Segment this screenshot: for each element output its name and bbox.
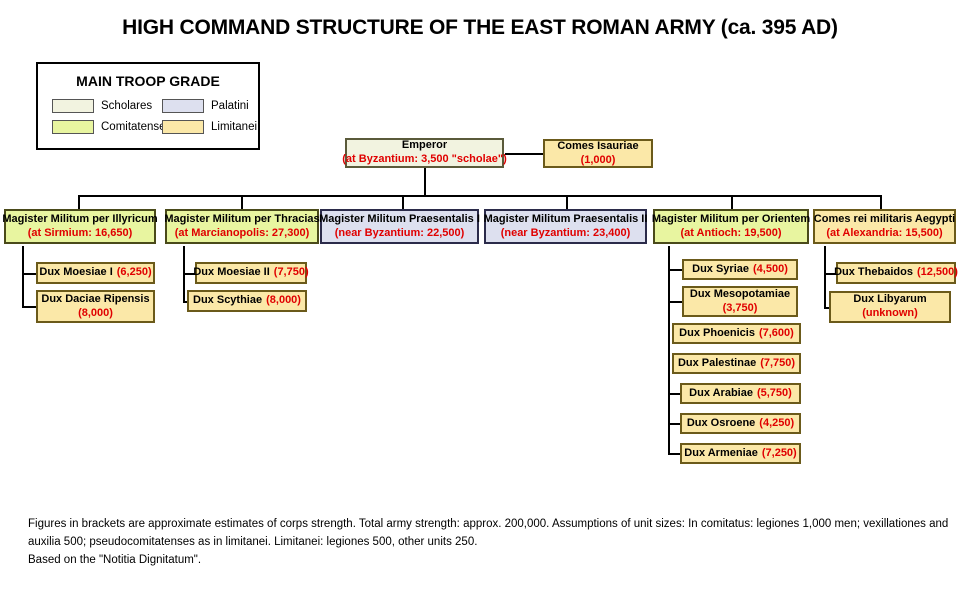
node-dux-moesiae-ii[interactable]: Dux Moesiae II (7,750)	[195, 262, 307, 284]
node-aegypti-detail: (at Alexandria: 15,500)	[826, 227, 942, 241]
node-dux-libyarum-detail: (unknown)	[862, 307, 918, 321]
node-dux-phoenicis-detail: (7,600)	[759, 327, 794, 341]
node-comes-isauriae-title: Comes Isauriae	[557, 140, 638, 154]
legend-label-comitatenses: Comitatenses	[101, 121, 171, 133]
node-dux-scythiae-title: Dux Scythiae	[193, 294, 262, 308]
node-comes-rei-militaris-aegypti[interactable]: Comes rei militaris Aegypti (at Alexandr…	[813, 209, 956, 244]
legend-label-scholares: Scholares	[101, 100, 152, 112]
node-dux-arabiae-title: Dux Arabiae	[689, 387, 753, 401]
node-dux-arabiae-detail: (5,750)	[757, 387, 792, 401]
node-dux-mesopotamiae-title: Dux Mesopotamiae	[690, 288, 790, 302]
legend-title: MAIN TROOP GRADE	[38, 73, 258, 89]
node-praesentalis-1-title: Magister Militum Praesentalis I	[319, 213, 480, 227]
node-dux-palestinae-detail: (7,750)	[760, 357, 795, 371]
node-dux-armeniae-detail: (7,250)	[762, 447, 797, 461]
legend-swatch-scholares	[52, 99, 94, 113]
node-dux-moesiae-i-detail: (6,250)	[117, 266, 152, 280]
legend-item-palatini: Palatini	[162, 99, 249, 113]
node-dux-daciae-ripensis[interactable]: Dux Daciae Ripensis (8,000)	[36, 290, 155, 323]
connector-drop-illyricum	[78, 195, 80, 209]
node-dux-syriae-title: Dux Syriae	[692, 263, 749, 277]
node-emperor[interactable]: Emperor (at Byzantium: 3,500 "scholae")	[345, 138, 504, 168]
node-praesentalis-2-title: Magister Militum Praesentalis II	[484, 213, 648, 227]
node-dux-scythiae-detail: (8,000)	[266, 294, 301, 308]
legend-swatch-comitatenses	[52, 120, 94, 134]
node-magister-militum-praesentalis-2[interactable]: Magister Militum Praesentalis II (near B…	[484, 209, 647, 244]
node-comes-isauriae-detail: (1,000)	[581, 154, 616, 168]
node-dux-moesiae-i-title: Dux Moesiae I	[39, 266, 112, 280]
page-title: HIGH COMMAND STRUCTURE OF THE EAST ROMAN…	[0, 16, 960, 40]
node-dux-armeniae-title: Dux Armeniae	[684, 447, 758, 461]
legend-swatch-limitanei	[162, 120, 204, 134]
node-magister-militum-per-illyricum[interactable]: Magister Militum per Illyricum (at Sirmi…	[4, 209, 156, 244]
legend-item-scholares: Scholares	[52, 99, 152, 113]
node-dux-mesopotamiae[interactable]: Dux Mesopotamiae (3,750)	[682, 286, 798, 317]
node-magister-militum-per-thracias[interactable]: Magister Militum per Thracias (at Marcia…	[165, 209, 319, 244]
connector-stub-daciae	[22, 306, 36, 308]
node-dux-daciae-detail: (8,000)	[78, 307, 113, 321]
connector-stub-armeniae	[668, 453, 680, 455]
node-orientem-detail: (at Antioch: 19,500)	[680, 227, 781, 241]
node-dux-osroene-title: Dux Osroene	[687, 417, 755, 431]
node-dux-arabiae[interactable]: Dux Arabiae (5,750)	[680, 383, 801, 404]
node-dux-palestinae-title: Dux Palestinae	[678, 357, 756, 371]
node-dux-armeniae[interactable]: Dux Armeniae (7,250)	[680, 443, 801, 464]
node-emperor-title: Emperor	[402, 139, 447, 153]
node-dux-syriae-detail: (4,500)	[753, 263, 788, 277]
legend-label-limitanei: Limitanei	[211, 121, 257, 133]
connector-drop-praesentalis-2	[566, 195, 568, 209]
node-dux-moesiae-ii-title: Dux Moesiae II	[193, 266, 269, 280]
node-dux-thebaidos-detail: (12,500)	[917, 266, 958, 280]
connector-stub-mesopotamiae	[668, 301, 682, 303]
node-dux-osroene[interactable]: Dux Osroene (4,250)	[680, 413, 801, 434]
connector-drop-praesentalis-1	[402, 195, 404, 209]
node-magister-militum-per-orientem[interactable]: Magister Militum per Orientem (at Antioc…	[653, 209, 809, 244]
node-dux-phoenicis[interactable]: Dux Phoenicis (7,600)	[672, 323, 801, 344]
connector-emperor-stem	[424, 167, 426, 195]
connector-trunk-aegypti	[824, 246, 826, 308]
connector-trunk-illyricum	[22, 246, 24, 307]
footnote-line-3: Based on the "Notitia Dignitatum".	[28, 552, 934, 570]
connector-drop-orientem	[731, 195, 733, 209]
connector-trunk-orientem	[668, 246, 670, 453]
connector-drop-aegypti	[880, 195, 882, 209]
connector-stub-arabiae	[668, 393, 680, 395]
node-illyricum-title: Magister Militum per Illyricum	[2, 213, 157, 227]
node-praesentalis-2-detail: (near Byzantium: 23,400)	[501, 227, 631, 241]
legend-swatch-palatini	[162, 99, 204, 113]
node-dux-moesiae-ii-detail: (7,750)	[274, 266, 309, 280]
node-magister-militum-praesentalis-1[interactable]: Magister Militum Praesentalis I (near By…	[320, 209, 479, 244]
node-emperor-detail: (at Byzantium: 3,500 "scholae")	[342, 153, 506, 167]
node-dux-moesiae-i[interactable]: Dux Moesiae I (6,250)	[36, 262, 155, 284]
legend-item-comitatenses: Comitatenses	[52, 120, 171, 134]
node-aegypti-title: Comes rei militaris Aegypti	[814, 213, 955, 227]
node-dux-mesopotamiae-detail: (3,750)	[723, 302, 758, 316]
node-dux-daciae-title: Dux Daciae Ripensis	[41, 293, 149, 307]
node-orientem-title: Magister Militum per Orientem	[652, 213, 810, 227]
node-dux-libyarum[interactable]: Dux Libyarum (unknown)	[829, 291, 951, 323]
node-thracias-detail: (at Marcianopolis: 27,300)	[175, 227, 310, 241]
connector-drop-thracias	[241, 195, 243, 209]
node-dux-syriae[interactable]: Dux Syriae (4,500)	[682, 259, 798, 280]
legend-label-palatini: Palatini	[211, 100, 249, 112]
node-thracias-title: Magister Militum per Thracias	[164, 213, 319, 227]
connector-main-bus	[78, 195, 880, 197]
node-comes-isauriae[interactable]: Comes Isauriae (1,000)	[543, 139, 653, 168]
connector-stub-osroene	[668, 423, 680, 425]
node-dux-palestinae[interactable]: Dux Palestinae (7,750)	[672, 353, 801, 374]
node-dux-libyarum-title: Dux Libyarum	[853, 293, 926, 307]
node-praesentalis-1-detail: (near Byzantium: 22,500)	[335, 227, 465, 241]
legend-box: MAIN TROOP GRADE Scholares Palatini Comi…	[36, 62, 260, 150]
node-dux-thebaidos[interactable]: Dux Thebaidos (12,500)	[836, 262, 956, 284]
node-dux-scythiae[interactable]: Dux Scythiae (8,000)	[187, 290, 307, 312]
connector-stub-moesiae-1	[22, 273, 36, 275]
node-illyricum-detail: (at Sirmium: 16,650)	[28, 227, 133, 241]
node-dux-osroene-detail: (4,250)	[759, 417, 794, 431]
footnote-line-1: Figures in brackets are approximate esti…	[28, 516, 934, 534]
footnote-line-2: auxilia 500; pseudocomitatenses as in li…	[28, 534, 934, 552]
connector-stub-syriae	[668, 269, 682, 271]
node-dux-phoenicis-title: Dux Phoenicis	[679, 327, 755, 341]
legend-item-limitanei: Limitanei	[162, 120, 257, 134]
node-dux-thebaidos-title: Dux Thebaidos	[834, 266, 913, 280]
footnote: Figures in brackets are approximate esti…	[28, 516, 934, 569]
connector-emperor-comes-isauriae	[505, 153, 543, 155]
